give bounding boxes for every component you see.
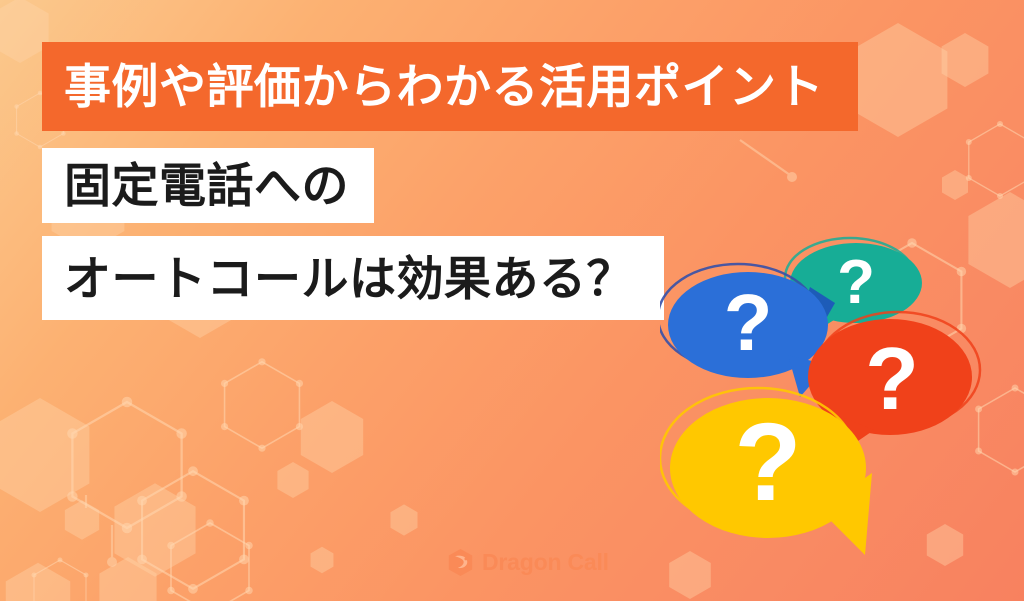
bubble-blue-question-mark: ? — [724, 278, 773, 367]
bubble-red-question-mark: ? — [865, 329, 919, 428]
bubble-yellow-question-mark: ? — [734, 401, 801, 524]
title-text-line-1: 固定電話への — [64, 162, 349, 209]
logo-wordmark: Dragon Call — [482, 551, 609, 574]
eyebrow-bar: 事例や評価からわかる活用ポイント — [42, 42, 858, 131]
eyebrow-text: 事例や評価からわかる活用ポイント — [64, 63, 824, 110]
banner-canvas: 事例や評価からわかる活用ポイント 固定電話への オートコールは効果ある？ ? ? — [0, 0, 1024, 601]
question-bubbles-illustration: ? ? ? ? — [660, 225, 1024, 575]
bubble-teal-question-mark: ? — [837, 248, 875, 317]
dragon-call-logo: Dragon Call — [447, 548, 609, 577]
dragon-hexagon-icon — [447, 548, 474, 577]
title-text-line-2: オートコールは効果ある？ — [64, 255, 634, 302]
title-bar-line-1: 固定電話への — [42, 148, 374, 223]
title-bar-line-2: オートコールは効果ある？ — [42, 236, 664, 320]
